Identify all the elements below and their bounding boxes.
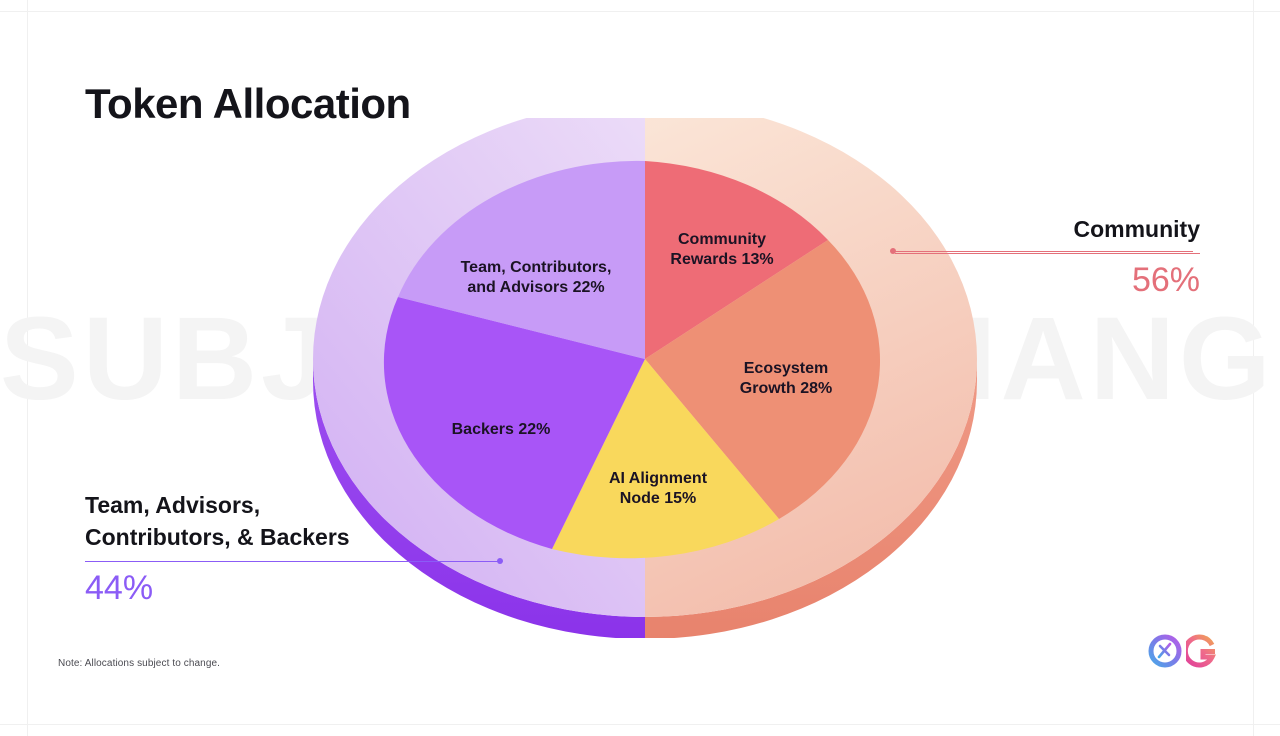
callout-community-title: Community [895,214,1200,246]
slice-label-backers: Backers 22% [431,420,571,440]
slice-label-line-2: Node 15% [588,489,728,509]
slide-frame-bottom [0,724,1280,725]
callout-team-title-line-2: Contributors, & Backers [85,522,355,554]
ai-swoosh-circle-icon [1148,634,1182,668]
slide-canvas: SUBJECT TO CHANGE Token Allocation [0,0,1280,736]
callout-team-value: 44% [85,568,355,609]
slice-label-ai-alignment-node: AI Alignment Node 15% [588,469,728,510]
slice-label-team-contributors-advisors: Team, Contributors, and Advisors 22% [443,258,629,299]
slice-label-line-1: Ecosystem [716,359,856,379]
callout-team: Team, Advisors, Contributors, & Backers … [85,490,355,609]
callout-team-title-line-1: Team, Advisors, [85,490,355,522]
slice-label-line-1: AI Alignment [588,469,728,489]
slice-label-community-rewards: Community Rewards 13% [652,230,792,271]
token-allocation-pie-chart [295,118,995,638]
leader-dot-team [497,558,503,564]
callout-community-rule [895,253,1200,254]
callout-team-rule [85,561,355,562]
slice-label-line-1: Community [652,230,792,250]
brand-logos [1148,634,1220,668]
callout-team-title: Team, Advisors, Contributors, & Backers [85,490,355,553]
slice-label-ecosystem-growth: Ecosystem Growth 28% [716,359,856,400]
footnote-text: Note: Allocations subject to change. [58,658,220,669]
callout-community-value: 56% [895,260,1200,301]
slice-label-line-2: Growth 28% [716,379,856,399]
slide-frame-top [0,11,1280,12]
slice-label-line-2: and Advisors 22% [443,278,629,298]
slice-label-line-2: Rewards 13% [652,250,792,270]
g-circle-icon [1186,634,1220,668]
callout-community: Community 56% [895,214,1200,301]
slice-label-line-1: Team, Contributors, [443,258,629,278]
